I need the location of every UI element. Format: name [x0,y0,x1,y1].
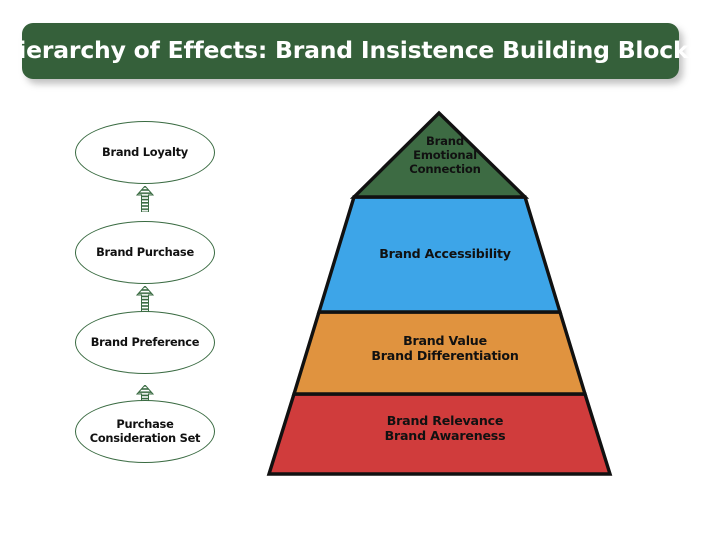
tier-line: Brand Relevance [255,413,635,428]
node-line: Consideration Set [90,432,201,445]
node-brand-loyalty-label: Brand Loyalty [96,146,194,159]
tier-line: Emotional [255,149,635,163]
node-brand-purchase[interactable]: Brand Purchase [75,221,215,284]
node-brand-preference-label: Brand Preference [85,336,206,349]
pyramid-tier-label-brand-accessibility: Brand Accessibility [255,246,635,261]
tier-line: Brand Value [255,333,635,348]
tier-line: Brand Accessibility [255,246,635,261]
node-purchase-consideration-set-label: Purchase Consideration Set [84,418,207,445]
node-purchase-consideration-set[interactable]: Purchase Consideration Set [75,400,215,463]
node-line: Brand Purchase [96,246,194,259]
node-brand-preference[interactable]: Brand Preference [75,311,215,374]
node-line: Brand Preference [91,336,200,349]
node-line: Brand Loyalty [102,146,188,159]
tier-line: Brand Differentiation [255,348,635,363]
pyramid-tier-label-brand-emotional-connection: Brand Emotional Connection [255,135,635,177]
arrow-up-icon-loyalty [136,186,154,212]
pyramid-tier-label-brand-relevance-awareness: Brand Relevance Brand Awareness [255,413,635,443]
pyramid-tier-label-brand-value-differentiation: Brand Value Brand Differentiation [255,333,635,363]
tier-line: Brand Awareness [255,428,635,443]
node-brand-purchase-label: Brand Purchase [90,246,200,259]
tier-line: Brand [255,135,635,149]
slide-canvas: Hierarchy of Effects: Brand Insistence B… [0,0,715,549]
arrow-up-icon-purchase [136,286,154,312]
node-brand-loyalty[interactable]: Brand Loyalty [75,121,215,184]
brand-insistence-pyramid: Brand Emotional Connection Brand Accessi… [255,100,635,490]
tier-line: Connection [255,163,635,177]
node-line: Purchase [90,418,201,431]
